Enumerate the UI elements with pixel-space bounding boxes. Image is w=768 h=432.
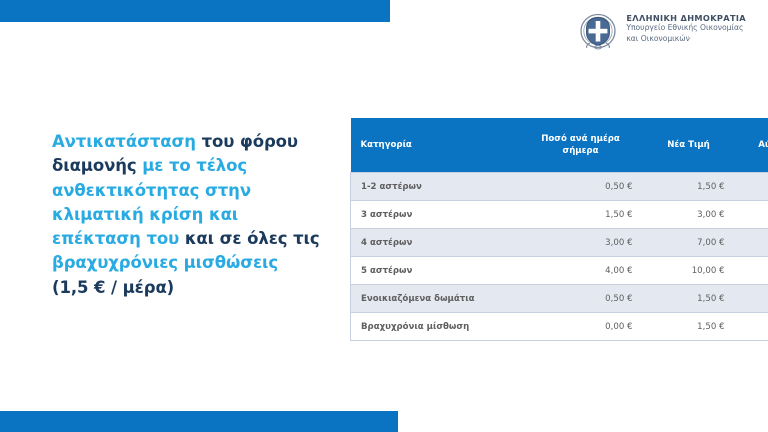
cell-increase: 4,00 € — [735, 229, 768, 257]
rates-table-body: 1-2 αστέρων0,50 €1,50 €1,00 €3 αστέρων1,… — [351, 173, 768, 341]
cell-new-price: 10,00 € — [643, 257, 735, 285]
cell-current-amount: 1,50 € — [519, 201, 643, 229]
ministry-logo-text: ΕΛΛΗΝΙΚΗ ΔΗΜΟΚΡΑΤΙΑ Υπουργείο Εθνικής Οι… — [626, 11, 746, 44]
cell-category: 5 αστέρων — [351, 257, 519, 285]
rates-table-head: Κατηγορία Ποσό ανά ημέρα σήμερα Νέα Τιμή… — [351, 118, 768, 173]
headline-segment-0: Αντικατάσταση — [52, 132, 202, 151]
cell-new-price: 1,50 € — [643, 313, 735, 341]
cell-category: 3 αστέρων — [351, 201, 519, 229]
table-row: 1-2 αστέρων0,50 €1,50 €1,00 € — [351, 173, 768, 201]
logo-ministry-line-2: και Οικονομικών — [626, 34, 746, 44]
cell-increase: 6,00 € — [735, 257, 768, 285]
table-row: 4 αστέρων3,00 €7,00 €4,00 € — [351, 229, 768, 257]
cell-category: Ενοικιαζόμενα δωμάτια — [351, 285, 519, 313]
top-blue-bar — [0, 0, 390, 22]
cell-increase: 1,50 € — [735, 313, 768, 341]
table-row: 3 αστέρων1,50 €3,00 €1,50 € — [351, 201, 768, 229]
table-row: Βραχυχρόνια μίσθωση0,00 €1,50 €1,50 € — [351, 313, 768, 341]
logo-ministry-line-1: Υπουργείο Εθνικής Οικονομίας — [626, 23, 746, 33]
cell-category: 4 αστέρων — [351, 229, 519, 257]
column-header-new-price: Νέα Τιμή — [643, 118, 735, 173]
headline: Αντικατάσταση του φόρου διαμονής με το τ… — [52, 130, 320, 300]
cell-new-price: 7,00 € — [643, 229, 735, 257]
cell-category: Βραχυχρόνια μίσθωση — [351, 313, 519, 341]
ministry-logo: ΕΛΛΗΝΙΚΗ ΔΗΜΟΚΡΑΤΙΑ Υπουργείο Εθνικής Οι… — [578, 11, 746, 51]
table-row: 5 αστέρων4,00 €10,00 €6,00 € — [351, 257, 768, 285]
cell-increase: 1,50 € — [735, 201, 768, 229]
cell-current-amount: 0,50 € — [519, 285, 643, 313]
column-header-increase: Αύξηση — [735, 118, 768, 173]
cell-new-price: 3,00 € — [643, 201, 735, 229]
rates-table-container: Κατηγορία Ποσό ανά ημέρα σήμερα Νέα Τιμή… — [350, 118, 738, 341]
rates-table: Κατηγορία Ποσό ανά ημέρα σήμερα Νέα Τιμή… — [350, 118, 768, 341]
bottom-blue-bar — [0, 411, 398, 432]
column-header-category: Κατηγορία — [351, 118, 519, 173]
cell-current-amount: 3,00 € — [519, 229, 643, 257]
cell-new-price: 1,50 € — [643, 285, 735, 313]
table-header-row: Κατηγορία Ποσό ανά ημέρα σήμερα Νέα Τιμή… — [351, 118, 768, 173]
cell-new-price: 1,50 € — [643, 173, 735, 201]
greek-coat-of-arms-icon — [578, 11, 618, 51]
cell-category: 1-2 αστέρων — [351, 173, 519, 201]
headline-segment-3: και σε όλες τις — [185, 229, 320, 248]
headline-segment-4: βραχυχρόνιες μισθώσεις — [52, 253, 278, 272]
cell-current-amount: 0,50 € — [519, 173, 643, 201]
column-header-current: Ποσό ανά ημέρα σήμερα — [519, 118, 643, 173]
headline-segment-5: (1,5 € / μέρα) — [52, 278, 174, 297]
table-row: Ενοικιαζόμενα δωμάτια0,50 €1,50 €1,00 € — [351, 285, 768, 313]
logo-country-line: ΕΛΛΗΝΙΚΗ ΔΗΜΟΚΡΑΤΙΑ — [626, 13, 746, 23]
cell-increase: 1,00 € — [735, 285, 768, 313]
cell-increase: 1,00 € — [735, 173, 768, 201]
cell-current-amount: 4,00 € — [519, 257, 643, 285]
cell-current-amount: 0,00 € — [519, 313, 643, 341]
